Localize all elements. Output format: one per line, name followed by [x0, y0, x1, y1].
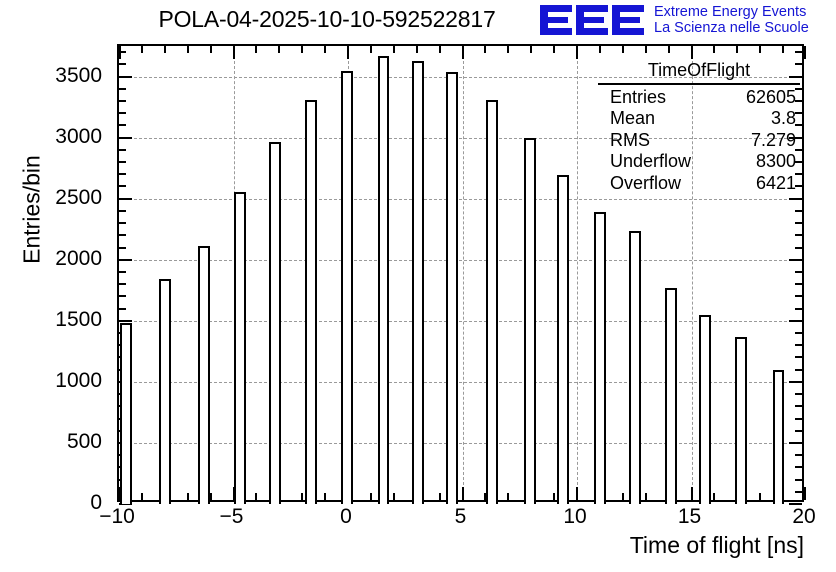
histogram-bar [198, 246, 210, 504]
stats-row: RMS7.279 [598, 130, 800, 152]
x-axis-tick [347, 46, 349, 59]
histogram-bar [412, 61, 424, 504]
x-axis-tick [233, 46, 235, 59]
stats-row-value: 62605 [746, 87, 796, 109]
x-axis-tick [576, 487, 578, 500]
y-axis-tick [789, 442, 802, 444]
stats-row-value: 3.8 [771, 108, 796, 130]
x-axis-title: Time of flight [ns] [504, 532, 804, 559]
y-axis-tick [119, 112, 126, 114]
histogram-bar [773, 370, 785, 504]
eee-logo-text: Extreme Energy Events La Scienza nelle S… [654, 4, 809, 36]
y-axis-tick [795, 247, 802, 249]
x-axis-tick [759, 46, 761, 53]
x-axis-tick [255, 46, 257, 53]
gridline-horizontal [119, 199, 802, 200]
x-axis-tick [713, 46, 715, 53]
x-axis-tick [141, 493, 143, 500]
y-axis-tick [795, 369, 802, 371]
y-axis-title: Entries/bin [19, 60, 46, 360]
y-axis-tick [795, 418, 802, 420]
histogram-bar [486, 100, 498, 504]
x-axis-tick [164, 46, 166, 53]
y-axis-tick [795, 393, 802, 395]
x-axis-tick-label: −5 [220, 505, 244, 529]
x-axis-tick [210, 493, 212, 500]
y-axis-tick [789, 198, 802, 200]
x-axis-tick [210, 46, 212, 53]
y-axis-tick [795, 222, 802, 224]
y-axis-tick [119, 185, 126, 187]
eee-letter-icon [576, 5, 608, 35]
y-axis-tick [795, 356, 802, 358]
x-axis-tick [187, 493, 189, 500]
eee-letter-icon [612, 5, 644, 35]
x-axis-tick [576, 46, 578, 59]
x-axis-tick [141, 46, 143, 53]
y-axis-tick [795, 283, 802, 285]
x-axis-tick-label: 15 [678, 505, 701, 529]
histogram-bar [594, 212, 606, 504]
y-axis-tick [795, 332, 802, 334]
x-axis-tick [484, 46, 486, 53]
y-axis-tick [795, 308, 802, 310]
x-axis-tick [691, 46, 693, 59]
x-axis-tick [255, 493, 257, 500]
x-axis-tick [622, 493, 624, 500]
y-axis-tick-label: 1000 [55, 369, 102, 393]
histogram-bar [378, 56, 390, 504]
x-axis-tick-label: −10 [99, 505, 135, 529]
y-axis-tick [795, 295, 802, 297]
eee-logo-line2: La Scienza nelle Scuole [654, 20, 809, 36]
y-axis-tick [119, 149, 126, 151]
y-axis-tick [795, 430, 802, 432]
x-axis-tick [645, 493, 647, 500]
stats-row: Overflow6421 [598, 173, 800, 195]
y-axis-tick [119, 124, 126, 126]
y-axis-tick [119, 161, 126, 163]
y-axis-tick [795, 491, 802, 493]
y-axis-tick [789, 259, 802, 261]
y-axis-tick-label: 3000 [55, 125, 102, 149]
histogram-bar [446, 72, 458, 504]
x-axis-tick [119, 46, 121, 59]
y-axis-tick [119, 100, 126, 102]
gridline-horizontal [119, 260, 802, 261]
y-axis-tick [789, 320, 802, 322]
stats-box-divider [598, 83, 800, 85]
stats-row-value: 6421 [756, 173, 796, 195]
y-axis-tick [119, 88, 126, 90]
histogram-bar [699, 315, 711, 504]
y-axis-tick [795, 234, 802, 236]
histogram-bar [159, 279, 171, 504]
root-canvas: POLA-04-2025-10-10-592522817 Extreme Ene… [0, 0, 836, 572]
y-axis-tick [119, 271, 126, 273]
x-axis-tick [713, 493, 715, 500]
x-axis-tick [462, 46, 464, 59]
y-axis-tick [119, 222, 126, 224]
x-axis-tick [393, 493, 395, 500]
y-axis-tick [119, 198, 132, 200]
histogram-bar [665, 288, 677, 504]
y-axis-tick [119, 63, 126, 65]
histogram-bar [120, 323, 132, 504]
x-axis-tick [187, 46, 189, 53]
stats-row-key: Underflow [610, 151, 691, 173]
x-axis-tick [439, 46, 441, 53]
x-axis-tick [736, 46, 738, 53]
stats-row-key: Overflow [610, 173, 681, 195]
y-axis-tick [119, 210, 126, 212]
y-axis-tick [119, 76, 132, 78]
histogram-bar [269, 142, 281, 504]
x-axis-tick [759, 493, 761, 500]
histogram-bar [341, 71, 353, 504]
x-axis-tick [668, 46, 670, 53]
y-axis-tick [119, 320, 132, 322]
y-axis-tick-label: 2500 [55, 186, 102, 210]
x-axis-tick [507, 493, 509, 500]
x-axis-tick [645, 46, 647, 53]
y-axis-tick [119, 173, 126, 175]
page-title: POLA-04-2025-10-10-592522817 [117, 6, 537, 33]
y-axis-tick [795, 210, 802, 212]
y-axis-tick [795, 51, 802, 53]
x-axis-tick [462, 487, 464, 500]
stats-row: Entries62605 [598, 87, 800, 109]
stats-row: Underflow8300 [598, 151, 800, 173]
x-axis-tick-label: 20 [792, 505, 815, 529]
gridline-vertical [463, 46, 464, 500]
stats-row-key: Entries [610, 87, 666, 109]
stats-box-title: TimeOfFlight [598, 60, 800, 83]
stats-row-key: RMS [610, 130, 650, 152]
x-axis-tick [370, 493, 372, 500]
y-axis-tick [119, 259, 132, 261]
x-axis-tick [439, 493, 441, 500]
x-axis-tick [622, 46, 624, 53]
x-axis-tick [278, 46, 280, 53]
gridline-vertical [577, 46, 578, 500]
y-axis-tick-labels: 0500100015002000250030003500 [0, 44, 110, 502]
x-axis-tick-label: 10 [563, 505, 586, 529]
x-axis-tick [324, 46, 326, 53]
eee-logo-line1: Extreme Energy Events [654, 4, 809, 20]
x-axis-tick-labels: −10−505101520 [117, 505, 804, 535]
x-axis-tick [782, 46, 784, 53]
x-axis-tick [370, 46, 372, 53]
histogram-bar [234, 192, 246, 504]
x-axis-tick [393, 46, 395, 53]
histogram-bar [557, 175, 569, 504]
stats-box: TimeOfFlight Entries62605Mean3.8RMS7.279… [598, 60, 800, 194]
y-axis-tick [795, 405, 802, 407]
stats-row: Mean3.8 [598, 108, 800, 130]
y-axis-tick [119, 247, 126, 249]
x-axis-tick [507, 46, 509, 53]
stats-row-value: 7.279 [751, 130, 796, 152]
y-axis-tick [119, 137, 132, 139]
y-axis-tick [795, 454, 802, 456]
y-axis-tick [795, 271, 802, 273]
eee-logo: Extreme Energy Events La Scienza nelle S… [540, 4, 809, 36]
y-axis-tick [119, 308, 126, 310]
x-axis-tick [599, 46, 601, 53]
x-axis-tick [553, 46, 555, 53]
histogram-bar [305, 100, 317, 504]
x-axis-tick [553, 493, 555, 500]
y-axis-tick [795, 479, 802, 481]
x-axis-tick [324, 493, 326, 500]
y-axis-tick-label: 3500 [55, 64, 102, 88]
x-axis-tick-label: 5 [455, 505, 467, 529]
x-axis-tick [301, 493, 303, 500]
histogram-bar [629, 231, 641, 504]
eee-mark-icon [540, 5, 644, 35]
y-axis-tick [789, 381, 802, 383]
x-axis-tick [301, 46, 303, 53]
y-axis-tick [795, 344, 802, 346]
x-axis-tick [804, 46, 806, 59]
stats-row-value: 8300 [756, 151, 796, 173]
x-axis-tick [530, 46, 532, 53]
y-axis-tick [795, 466, 802, 468]
y-axis-tick-label: 2000 [55, 247, 102, 271]
y-axis-tick [119, 234, 126, 236]
histogram-bar [735, 337, 747, 504]
y-axis-tick [119, 283, 126, 285]
x-axis-tick [416, 46, 418, 53]
y-axis-tick-label: 500 [67, 430, 102, 454]
stats-row-key: Mean [610, 108, 655, 130]
eee-letter-icon [540, 5, 572, 35]
x-axis-tick-label: 0 [340, 505, 352, 529]
y-axis-tick [119, 295, 126, 297]
x-axis-tick [804, 487, 806, 500]
x-axis-tick [691, 487, 693, 500]
y-axis-tick-label: 1500 [55, 308, 102, 332]
histogram-bar [524, 138, 536, 504]
